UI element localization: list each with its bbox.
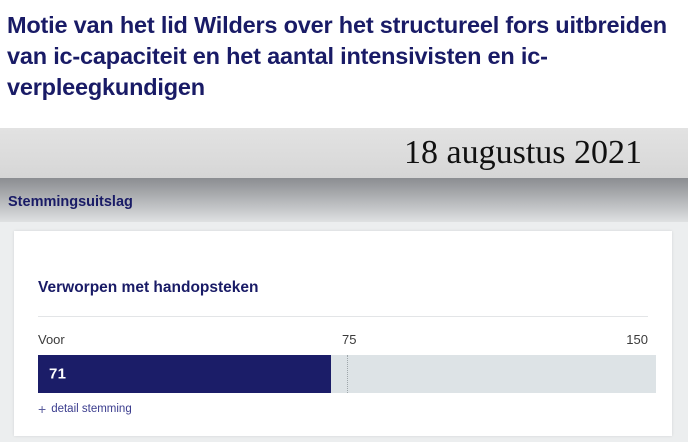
bar-value-label: 71 — [49, 366, 66, 383]
axis-label-voor: Voor — [38, 332, 65, 348]
section-title: Stemmingsuitslag — [8, 194, 133, 210]
vote-result-page: Motie van het lid Wilders over het struc… — [0, 0, 688, 442]
detail-stemming-link[interactable]: + detail stemming — [38, 403, 132, 415]
card-divider — [38, 316, 648, 317]
detail-stemming-label: detail stemming — [51, 403, 132, 415]
bar-track: 71 — [38, 355, 656, 393]
result-card: Verworpen met handopsteken Voor 75 150 7… — [14, 231, 672, 436]
motion-title-block: Motie van het lid Wilders over het struc… — [0, 0, 688, 128]
axis-label-75: 75 — [342, 332, 356, 348]
vote-date: 18 augustus 2021 — [404, 135, 642, 171]
plus-icon: + — [38, 404, 46, 415]
chart-axis-labels: Voor 75 150 — [38, 332, 656, 352]
result-outcome-heading: Verworpen met handopsteken — [38, 279, 259, 297]
axis-label-150: 150 — [626, 332, 648, 348]
majority-threshold-marker — [347, 355, 348, 393]
date-banner: 18 augustus 2021 — [0, 128, 688, 178]
bar-fill-voor: 71 — [38, 355, 331, 393]
page-title: Motie van het lid Wilders over het struc… — [7, 10, 674, 103]
